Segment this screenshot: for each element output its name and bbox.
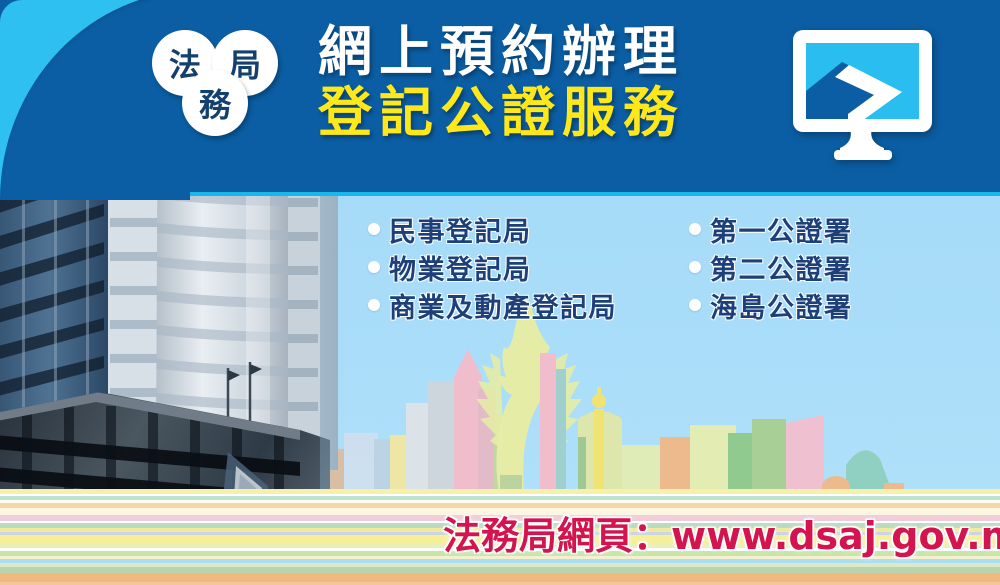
headline-line-1: 網上預約辦理: [318, 24, 684, 79]
list-item[interactable]: 商業及動產登記局: [368, 290, 617, 320]
service-list-right: 第一公證署 第二公證署 海島公證署: [689, 214, 853, 328]
service-label: 第二公證署: [710, 248, 853, 287]
bullet-icon: [689, 223, 701, 235]
stripe: [0, 573, 1000, 582]
bullet-icon: [368, 299, 380, 311]
logo-char-3: 務: [199, 80, 231, 126]
bullet-icon: [689, 261, 701, 273]
service-lists: 民事登記局 物業登記局 商業及動產登記局 第一公證署 第二公證署 海島: [368, 214, 853, 328]
service-label: 第一公證署: [710, 210, 853, 249]
list-item[interactable]: 第一公證署: [689, 214, 853, 244]
dsaj-logo: 法 局 務: [152, 30, 302, 145]
service-label: 商業及動產登記局: [389, 286, 617, 325]
bullet-icon: [689, 299, 701, 311]
promotional-banner: 法 局 務 網上預約辦理 登記公證服務 民事登記局: [0, 0, 1000, 585]
service-list-left: 民事登記局 物業登記局 商業及動產登記局: [368, 214, 617, 328]
list-item[interactable]: 海島公證署: [689, 290, 853, 320]
service-label: 物業登記局: [389, 248, 532, 287]
bullet-icon: [368, 223, 380, 235]
website-url[interactable]: 法務局網頁：www.dsaj.gov.mo: [443, 505, 1000, 560]
headline-line-2: 登記公證服務: [318, 85, 684, 140]
service-label: 海島公證署: [710, 286, 853, 325]
bullet-icon: [368, 261, 380, 273]
list-item[interactable]: 民事登記局: [368, 214, 617, 244]
list-item[interactable]: 第二公證署: [689, 252, 853, 282]
service-label: 民事登記局: [389, 210, 532, 249]
logo-circle-3: 務: [182, 70, 248, 136]
monitor-icon: [790, 28, 935, 163]
list-item[interactable]: 物業登記局: [368, 252, 617, 282]
headline: 網上預約辦理 登記公證服務: [318, 24, 684, 140]
